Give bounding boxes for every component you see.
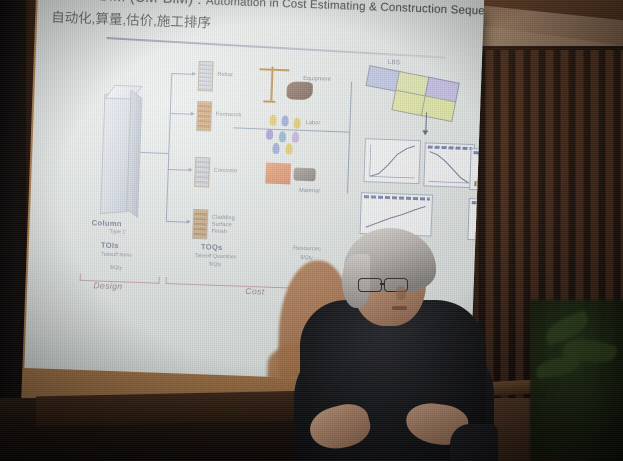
material-label-concrete: Concrete xyxy=(214,168,238,176)
takeoff-quantities-unit: $/Qty xyxy=(176,260,254,269)
labor-figure xyxy=(281,115,288,126)
labor-figure xyxy=(285,143,292,154)
labor-figure xyxy=(279,131,286,142)
resource-label-equipment: Equipment xyxy=(303,76,331,84)
connector-branch-3 xyxy=(168,169,190,171)
seated-presenter xyxy=(300,228,500,461)
phase-label-cost: Cost xyxy=(245,286,265,297)
arrow-branch-2 xyxy=(191,111,195,115)
column-sublabel: 'Type 1' xyxy=(91,228,143,236)
takeoff-items-code: TOIs xyxy=(101,241,119,251)
resource-label-labor: Labor xyxy=(305,120,320,128)
material-label-formwork: Formwork xyxy=(216,112,242,120)
arrow-lbs-down xyxy=(422,130,428,135)
crane-mast xyxy=(270,67,273,101)
arrow-branch-1 xyxy=(192,71,196,75)
material-label-rebar: Rebar xyxy=(217,72,233,80)
crane-jib xyxy=(259,68,289,71)
arrow-branch-3 xyxy=(189,167,193,171)
material-swatch-concrete xyxy=(194,157,210,188)
connector-to-resources xyxy=(233,127,349,132)
potted-plant xyxy=(530,300,623,461)
mini-chart-s-curve xyxy=(363,138,421,184)
presenter-mouth xyxy=(392,306,407,310)
labor-figure xyxy=(293,118,300,129)
eyeglasses-left-lens xyxy=(358,278,382,292)
material-swatch-rebar xyxy=(198,61,214,92)
photo-scene: 4D-5D BIM (CM-BiM) : Automation in Cost … xyxy=(0,0,623,461)
mini-chart-decline xyxy=(423,142,475,188)
material-swatch-cladding xyxy=(192,209,208,240)
labor-figure xyxy=(292,131,299,142)
takeoff-items-unit: $/Qty xyxy=(86,264,146,273)
labor-figure xyxy=(269,115,276,126)
decline-plot xyxy=(424,143,474,187)
s-curve-plot xyxy=(364,139,420,183)
eyeglasses-bridge xyxy=(380,283,385,285)
material-pallet-icon xyxy=(265,163,291,185)
connector-branch-2 xyxy=(170,113,192,115)
connector-branch-1 xyxy=(171,73,193,75)
connector-resource-bus xyxy=(347,82,352,194)
plant-leaf xyxy=(535,355,581,379)
presenter-arm xyxy=(450,424,498,461)
labor-figure xyxy=(266,129,273,140)
connector-trunk xyxy=(140,152,168,154)
presenter-nose xyxy=(396,286,406,300)
crane-base xyxy=(263,100,275,102)
material-swatch-formwork xyxy=(196,101,212,132)
material-label-cladding: Cladding Surface Finish xyxy=(211,215,248,237)
connector-branch-4 xyxy=(166,221,188,223)
equipment-icon xyxy=(286,81,313,100)
slide-title-separator: : xyxy=(193,0,206,8)
labor-figure xyxy=(272,143,279,154)
takeoff-quantities-code: TOQs xyxy=(201,242,223,252)
delivery-truck-icon xyxy=(293,168,315,182)
lbs-plan-group xyxy=(361,61,484,131)
bar xyxy=(474,181,476,186)
phase-label-design: Design xyxy=(93,280,123,291)
column-label: Column xyxy=(92,218,122,228)
arrow-branch-4 xyxy=(187,219,191,223)
takeoff-items-title: Takeoff Items xyxy=(86,251,146,260)
resource-label-material: Material xyxy=(299,188,320,196)
connector-bus xyxy=(166,73,172,221)
